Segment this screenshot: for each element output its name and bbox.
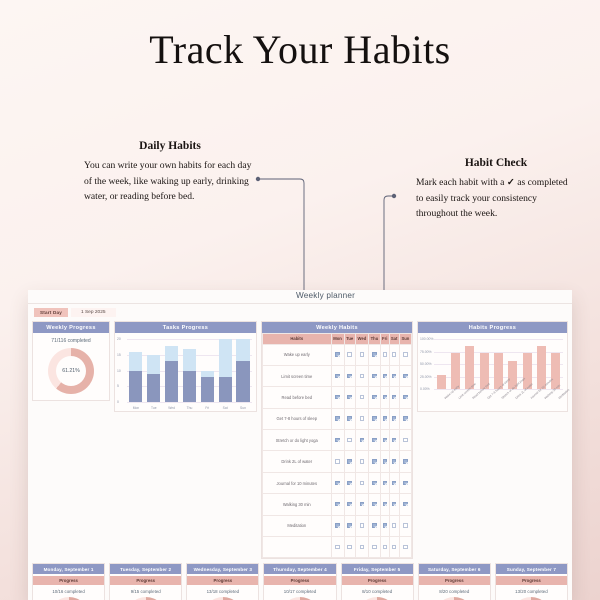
checkbox-icon[interactable] (360, 352, 364, 356)
panel-title: Habits Progress (418, 322, 567, 333)
checkbox-icon[interactable] (347, 502, 351, 506)
checkbox-icon[interactable] (392, 545, 396, 549)
y-axis-tick: 0.00% (420, 387, 430, 391)
day-card-header: Monday, September 1 (33, 564, 104, 574)
checkbox-icon[interactable] (383, 523, 387, 527)
habit-check-cell[interactable] (380, 365, 389, 386)
bar-completed (147, 374, 160, 402)
habit-check-cell[interactable] (355, 494, 368, 515)
habit-check-cell[interactable] (331, 365, 344, 386)
habit-check-cell[interactable] (355, 408, 368, 429)
check-mark-icon: ✓ (507, 177, 515, 188)
day-card: Monday, September 1Progress10/16 complet… (32, 563, 105, 600)
day-card-header: Sunday, September 7 (496, 564, 567, 574)
table-row: Journal for 10 minutes (263, 472, 412, 493)
checkbox-icon[interactable] (392, 523, 396, 527)
y-axis-tick: 10 (117, 369, 121, 373)
checkbox-icon[interactable] (335, 395, 339, 399)
checkbox-icon[interactable] (372, 395, 376, 399)
bar-remaining (165, 346, 178, 362)
habit-check-cell[interactable] (389, 515, 399, 536)
habit-check-cell[interactable] (344, 494, 355, 515)
checkbox-icon[interactable] (392, 459, 396, 463)
checkbox-icon[interactable] (347, 523, 351, 527)
habit-check-cell[interactable] (344, 365, 355, 386)
checkbox-icon[interactable] (335, 352, 339, 356)
checkbox-icon[interactable] (383, 438, 387, 442)
checkbox-icon[interactable] (335, 438, 339, 442)
annotation-body: You can write your own habits for each d… (84, 158, 256, 205)
column-header-habits: Habits (263, 334, 332, 344)
bar-completed (219, 377, 232, 402)
panel-weekly-progress: Weekly Progress 71/116 completed 61.21% (32, 321, 110, 401)
habit-check-cell[interactable] (331, 451, 344, 472)
checkbox-icon[interactable] (372, 374, 376, 378)
checkbox-icon[interactable] (403, 459, 407, 463)
y-axis-tick: 25.00% (420, 375, 432, 379)
checkbox-icon[interactable] (360, 481, 364, 485)
panel-habits-progress: Habits Progress 0.00%25.00%50.00%75.00%1… (417, 321, 568, 412)
habit-check-cell[interactable] (369, 408, 381, 429)
annotation-habit-check: Habit Check Mark each habit with a ✓ as … (416, 157, 576, 222)
checkbox-icon[interactable] (392, 374, 396, 378)
bar-column (165, 339, 178, 402)
checkbox-icon[interactable] (403, 502, 407, 506)
habit-check-cell[interactable] (344, 387, 355, 408)
habit-check-cell[interactable] (331, 515, 344, 536)
checkbox-icon[interactable] (360, 438, 364, 442)
progress-count: 13/18 completed (187, 585, 258, 595)
checkbox-icon[interactable] (383, 374, 387, 378)
habit-name[interactable]: Wake up early (263, 344, 332, 365)
day-card: Saturday, September 6Progress8/20 comple… (418, 563, 491, 600)
checkbox-icon[interactable] (403, 438, 407, 442)
habit-check-cell[interactable] (344, 344, 355, 365)
progress-header: Progress (110, 576, 181, 585)
start-day-label: Start Day (34, 308, 68, 317)
progress-header: Progress (419, 576, 490, 585)
checkbox-icon[interactable] (360, 374, 364, 378)
checkbox-icon[interactable] (360, 459, 364, 463)
column-header-day: Thu (369, 334, 381, 344)
habit-check-cell[interactable] (355, 430, 368, 451)
habit-check-cell[interactable] (369, 536, 381, 557)
gridline (127, 402, 252, 403)
checkbox-icon[interactable] (383, 459, 387, 463)
x-axis-tick: Thu (183, 406, 196, 410)
weekly-progress-caption: 71/116 completed (33, 333, 109, 346)
habit-check-cell[interactable] (369, 494, 381, 515)
habit-check-cell[interactable] (399, 344, 411, 365)
tab-weekly-planner[interactable]: Weekly planner (296, 291, 355, 300)
day-card: Friday, September 5Progress8/10 complete… (341, 563, 414, 600)
habit-check-cell[interactable] (344, 536, 355, 557)
panel-tasks-progress: Tasks Progress 05101520MonTueWedThuFriSa… (114, 321, 257, 412)
y-axis-tick: 50.00% (420, 362, 432, 366)
checkbox-icon[interactable] (372, 481, 376, 485)
bar-remaining (147, 355, 160, 374)
habit-name[interactable] (263, 536, 332, 557)
bar-column (129, 339, 142, 402)
checkbox-icon[interactable] (347, 374, 351, 378)
habit-check-cell[interactable] (399, 536, 411, 557)
checkbox-icon[interactable] (403, 374, 407, 378)
checkbox-icon[interactable] (360, 416, 364, 420)
page-title: Track Your Habits (0, 26, 600, 73)
progress-count: 8/20 completed (419, 585, 490, 595)
checkbox-icon[interactable] (347, 459, 351, 463)
sheet-body: Start Day 1 Sep 2025 Weekly Progress 71/… (28, 304, 572, 600)
progress-donut-wrap: 65.00% (496, 595, 567, 600)
habit-check-cell[interactable] (389, 472, 399, 493)
habit-check-cell[interactable] (389, 344, 399, 365)
progress-donut-wrap: 40.00% (419, 595, 490, 600)
checkbox-icon[interactable] (403, 352, 407, 356)
day-card: Sunday, September 7Progress13/20 complet… (495, 563, 568, 600)
habit-check-cell[interactable] (380, 408, 389, 429)
checkbox-icon[interactable] (360, 523, 364, 527)
bar-completed (236, 361, 249, 402)
checkbox-icon[interactable] (372, 416, 376, 420)
annotation-heading: Habit Check (416, 157, 576, 169)
progress-count: 10/17 completed (264, 585, 335, 595)
progress-header: Progress (496, 576, 567, 585)
habit-name[interactable]: Drink 2L of water (263, 451, 332, 472)
habit-check-cell[interactable] (355, 387, 368, 408)
checkbox-icon[interactable] (335, 481, 339, 485)
progress-header: Progress (342, 576, 413, 585)
bar-column (147, 339, 160, 402)
habit-name[interactable]: Journal for 10 minutes (263, 472, 332, 493)
progress-header: Progress (187, 576, 258, 585)
table-row: Get 7-8 hours of sleep (263, 408, 412, 429)
habit-check-cell[interactable] (355, 472, 368, 493)
x-axis-labels: MonTueWedThuFriSatSun (127, 406, 252, 410)
habit-check-cell[interactable] (355, 536, 368, 557)
habit-check-cell[interactable] (399, 494, 411, 515)
progress-donut-wrap: 72.22% (187, 595, 258, 600)
bar-group (434, 339, 563, 389)
habit-check-cell[interactable] (355, 515, 368, 536)
habit-check-cell[interactable] (380, 451, 389, 472)
habit-check-cell[interactable] (355, 365, 368, 386)
checkbox-icon[interactable] (360, 395, 364, 399)
day-card-header: Tuesday, September 2 (110, 564, 181, 574)
habit-check-cell[interactable] (331, 494, 344, 515)
y-axis-tick: 75.00% (420, 350, 432, 354)
habit-check-cell[interactable] (399, 408, 411, 429)
habit-name[interactable]: Get 7-8 hours of sleep (263, 408, 332, 429)
checkbox-icon[interactable] (392, 416, 396, 420)
habit-check-cell[interactable] (344, 408, 355, 429)
table-row: Meditation (263, 515, 412, 536)
annotation-daily-habits: Daily Habits You can write your own habi… (84, 140, 256, 205)
panel-title: Weekly Progress (33, 322, 109, 333)
bar (451, 353, 460, 389)
checkbox-icon[interactable] (392, 502, 396, 506)
checkbox-icon[interactable] (347, 481, 351, 485)
checkbox-icon[interactable] (347, 545, 351, 549)
x-axis-tick: Wed (165, 406, 178, 410)
checkbox-icon[interactable] (360, 545, 364, 549)
checkbox-icon[interactable] (403, 523, 407, 527)
checkbox-icon[interactable] (335, 523, 339, 527)
habit-check-cell[interactable] (344, 430, 355, 451)
bar-remaining (219, 339, 232, 377)
day-card-header: Thursday, September 4 (264, 564, 335, 574)
habit-check-cell[interactable] (399, 387, 411, 408)
habit-name[interactable]: Meditation (263, 515, 332, 536)
weekly-progress-donut: 61.21% (48, 348, 94, 394)
habit-check-cell[interactable] (369, 365, 381, 386)
column-header-day: Sun (399, 334, 411, 344)
habit-check-cell[interactable] (369, 344, 381, 365)
progress-header: Progress (264, 576, 335, 585)
bar (437, 375, 446, 389)
checkbox-icon[interactable] (372, 523, 376, 527)
habit-check-cell[interactable] (389, 430, 399, 451)
checkbox-icon[interactable] (335, 459, 339, 463)
y-axis-tick: 100.00% (420, 337, 433, 341)
panel-title: Tasks Progress (115, 322, 256, 333)
checkbox-icon[interactable] (335, 502, 339, 506)
weekly-progress-percent: 61.21% (62, 368, 80, 374)
weekly-habits-table[interactable]: HabitsMonTueWedThuFriSatSun Wake up earl… (262, 333, 412, 558)
x-axis-labels: Wake up earlyLimit screen timeRead befor… (434, 389, 563, 411)
day-card: Wednesday, September 3Progress13/18 comp… (186, 563, 259, 600)
panel-title: Weekly Habits (262, 322, 412, 333)
habit-check-cell[interactable] (380, 494, 389, 515)
day-card-header: Friday, September 5 (342, 564, 413, 574)
checkbox-icon[interactable] (383, 416, 387, 420)
habits-progress-chart: 0.00%25.00%50.00%75.00%100.00%Wake up ea… (418, 333, 567, 411)
day-card: Tuesday, September 2Progress9/15 complet… (109, 563, 182, 600)
table-body: Wake up earlyLimit screen timeRead befor… (263, 344, 412, 558)
start-day-row: Start Day 1 Sep 2025 (32, 307, 568, 318)
column-header-day: Wed (355, 334, 368, 344)
checkbox-icon[interactable] (372, 438, 376, 442)
annotation-body-before: Mark each habit with a (416, 177, 507, 188)
x-axis-tick: Fri (201, 406, 214, 410)
checkbox-icon[interactable] (360, 502, 364, 506)
habit-check-cell[interactable] (355, 451, 368, 472)
bar-column (219, 339, 232, 402)
weekly-progress-donut-wrap: 61.21% (33, 346, 109, 400)
progress-donut-wrap: 62.50% (33, 595, 104, 600)
bar-completed (165, 361, 178, 402)
spreadsheet-window[interactable]: Weekly planner Start Day 1 Sep 2025 Week… (28, 290, 572, 600)
habit-check-cell[interactable] (399, 515, 411, 536)
checkbox-icon[interactable] (335, 416, 339, 420)
table-row: Walking 30 min (263, 494, 412, 515)
y-axis-tick: 15 (117, 353, 121, 357)
dashboard-top-row: Weekly Progress 71/116 completed 61.21% … (32, 321, 568, 559)
checkbox-icon[interactable] (372, 502, 376, 506)
day-card-header: Wednesday, September 3 (187, 564, 258, 574)
checkbox-icon[interactable] (403, 545, 407, 549)
checkbox-icon[interactable] (403, 416, 407, 420)
day-cards-row: Monday, September 1Progress10/16 complet… (32, 563, 568, 600)
bar-group (127, 339, 252, 402)
x-axis-tick: Sun (236, 406, 249, 410)
habit-check-cell[interactable] (344, 515, 355, 536)
bar-remaining (129, 352, 142, 371)
habit-name[interactable]: Limit screen time (263, 365, 332, 386)
habit-check-cell[interactable] (380, 536, 389, 557)
habit-check-cell[interactable] (389, 408, 399, 429)
checkbox-icon[interactable] (383, 545, 387, 549)
habit-check-cell[interactable] (369, 472, 381, 493)
progress-count: 10/16 completed (33, 585, 104, 595)
panel-weekly-habits: Weekly Habits HabitsMonTueWedThuFriSatSu… (261, 321, 413, 559)
checkbox-icon[interactable] (335, 545, 339, 549)
table-row (263, 536, 412, 557)
habit-name[interactable]: Stretch or do light yoga (263, 430, 332, 451)
checkbox-icon[interactable] (392, 395, 396, 399)
column-header-day: Mon (331, 334, 344, 344)
checkbox-icon[interactable] (372, 545, 376, 549)
checkbox-icon[interactable] (335, 374, 339, 378)
habit-name[interactable]: Read before bed (263, 387, 332, 408)
habit-check-cell[interactable] (389, 494, 399, 515)
bar-column (201, 339, 214, 402)
habit-check-cell[interactable] (331, 408, 344, 429)
bar-remaining (183, 349, 196, 371)
table-row: Limit screen time (263, 365, 412, 386)
bar-column (183, 339, 196, 402)
habit-check-cell[interactable] (369, 515, 381, 536)
bar-completed (201, 377, 214, 402)
checkbox-icon[interactable] (347, 395, 351, 399)
habit-check-cell[interactable] (344, 451, 355, 472)
progress-donut-wrap: 60.00% (110, 595, 181, 600)
column-header-day: Sat (389, 334, 399, 344)
table-row: Read before bed (263, 387, 412, 408)
table-row: Wake up early (263, 344, 412, 365)
y-axis-tick: 0 (117, 400, 119, 404)
habit-check-cell[interactable] (331, 472, 344, 493)
tasks-progress-chart: 05101520MonTueWedThuFriSatSun (115, 333, 256, 411)
habit-check-cell[interactable] (399, 430, 411, 451)
day-card: Thursday, September 4Progress10/17 compl… (263, 563, 336, 600)
checkbox-icon[interactable] (347, 352, 351, 356)
habit-check-cell[interactable] (399, 365, 411, 386)
y-axis-tick: 5 (117, 384, 119, 388)
habit-check-cell[interactable] (380, 387, 389, 408)
habit-check-cell[interactable] (380, 472, 389, 493)
table-row: Drink 2L of water (263, 451, 412, 472)
start-day-value[interactable]: 1 Sep 2025 (71, 308, 116, 317)
bar-remaining (236, 339, 249, 361)
habit-check-cell[interactable] (331, 430, 344, 451)
habit-check-cell[interactable] (389, 536, 399, 557)
checkbox-icon[interactable] (383, 395, 387, 399)
checkbox-icon[interactable] (347, 416, 351, 420)
habit-check-cell[interactable] (389, 387, 399, 408)
habit-check-cell[interactable] (355, 344, 368, 365)
column-header-day: Fri (380, 334, 389, 344)
habit-check-cell[interactable] (369, 451, 381, 472)
checkbox-icon[interactable] (403, 395, 407, 399)
habit-name[interactable]: Walking 30 min (263, 494, 332, 515)
checkbox-icon[interactable] (383, 352, 387, 356)
habit-check-cell[interactable] (389, 365, 399, 386)
checkbox-icon[interactable] (392, 352, 396, 356)
habit-check-cell[interactable] (389, 451, 399, 472)
day-card-header: Saturday, September 6 (419, 564, 490, 574)
y-axis-tick: 20 (117, 337, 121, 341)
annotation-body: Mark each habit with a ✓ as completed to… (416, 175, 576, 222)
progress-header: Progress (33, 576, 104, 585)
bar-completed (129, 371, 142, 403)
progress-count: 8/10 completed (342, 585, 413, 595)
habit-check-cell[interactable] (380, 430, 389, 451)
app-toolbar: Weekly planner (28, 290, 572, 304)
habit-check-cell[interactable] (369, 430, 381, 451)
checkbox-icon[interactable] (403, 481, 407, 485)
annotation-heading: Daily Habits (84, 140, 256, 152)
progress-donut-wrap: 58.82% (264, 595, 335, 600)
checkbox-icon[interactable] (383, 502, 387, 506)
bar-completed (183, 371, 196, 403)
habit-check-cell[interactable] (380, 515, 389, 536)
progress-count: 13/20 completed (496, 585, 567, 595)
bar-column (236, 339, 249, 402)
checkbox-icon[interactable] (392, 438, 396, 442)
progress-count: 9/15 completed (110, 585, 181, 595)
checkbox-icon[interactable] (383, 481, 387, 485)
column-header-day: Tue (344, 334, 355, 344)
checkbox-icon[interactable] (372, 459, 376, 463)
checkbox-icon[interactable] (372, 352, 376, 356)
habit-check-cell[interactable] (380, 344, 389, 365)
x-axis-tick: Tue (147, 406, 160, 410)
habit-check-cell[interactable] (344, 472, 355, 493)
table-header-row: HabitsMonTueWedThuFriSatSun (263, 334, 412, 344)
x-axis-tick: Sat (219, 406, 232, 410)
x-axis-tick: Mon (129, 406, 142, 410)
habit-check-cell[interactable] (369, 387, 381, 408)
table-row: Stretch or do light yoga (263, 430, 412, 451)
habit-check-cell[interactable] (331, 536, 344, 557)
habit-check-cell[interactable] (331, 387, 344, 408)
habit-check-cell[interactable] (399, 472, 411, 493)
checkbox-icon[interactable] (392, 481, 396, 485)
habit-check-cell[interactable] (399, 451, 411, 472)
habit-check-cell[interactable] (331, 344, 344, 365)
checkbox-icon[interactable] (347, 438, 351, 442)
progress-donut-wrap: 80.00% (342, 595, 413, 600)
